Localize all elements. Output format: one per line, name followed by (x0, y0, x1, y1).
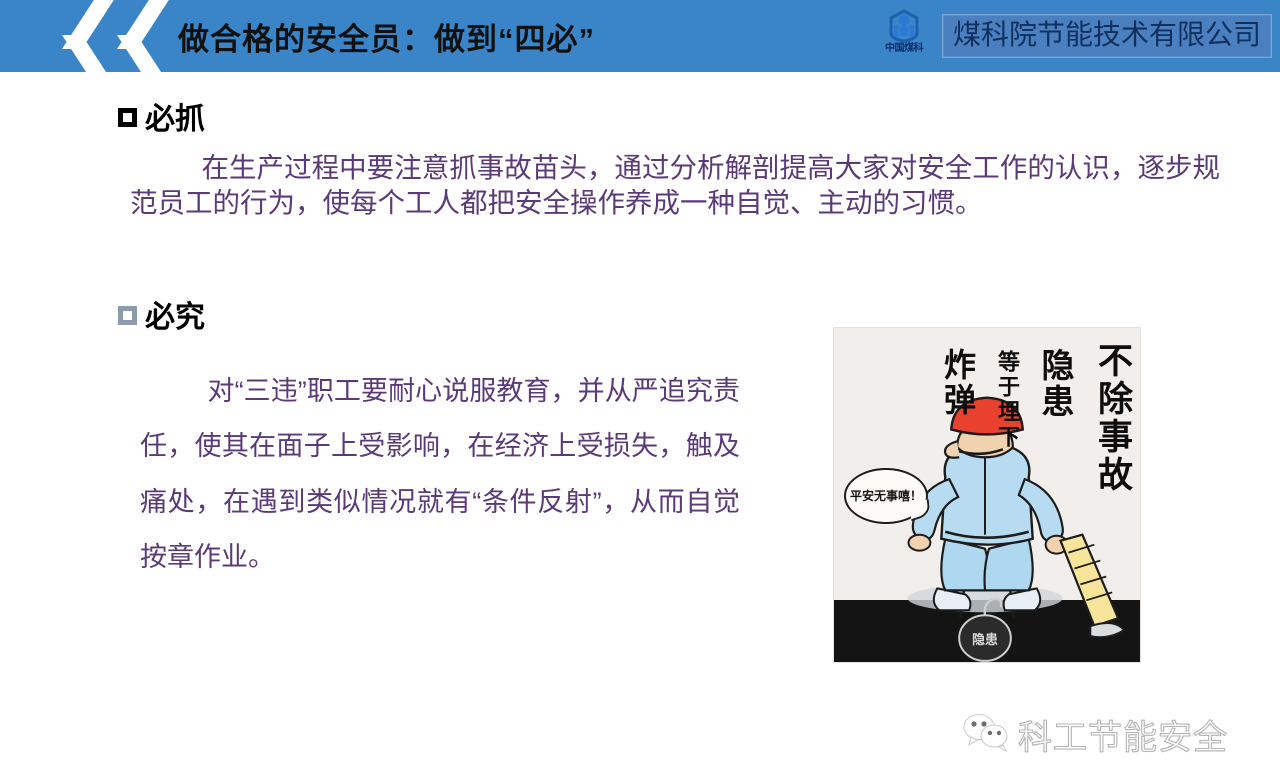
cartoon-brush-column-2: 隐患 (1037, 348, 1070, 420)
chevron-right-icon-1 (48, 0, 108, 72)
double-chevron-right-icon (0, 0, 190, 72)
china-coal-emblem-icon: 中国煤科 (873, 7, 935, 65)
section-heading-1: 必抓 (118, 94, 205, 138)
section-heading-2-label: 必究 (145, 292, 205, 336)
section-body-2: 对“三违”职工要耐心说服教育，并从严追究责任，使其在面子上受影响，在经济上受损失… (140, 364, 740, 585)
chevron-right-icon-2 (103, 0, 163, 72)
cartoon-brush-column-3: 等于埋下 (996, 350, 1018, 450)
section-body-1: 在生产过程中要注意抓事故苗头，通过分析解剖提高大家对安全工作的认识，逐步规范员工… (130, 150, 1220, 220)
svg-text:隐患: 隐患 (972, 632, 998, 647)
china-coal-logo-caption: 中国煤科 (885, 44, 923, 54)
cartoon-speech-bubble: 平安无事嘻！ (844, 468, 928, 524)
slide-header: 做合格的安全员：做到“四必” 中国煤科 煤科院节能技术有限公司 (0, 0, 1280, 72)
watermark-label: 科工节能安全 (1018, 710, 1228, 759)
cartoon-brush-column-4: 炸弹 (942, 348, 974, 418)
wechat-icon (962, 712, 1010, 757)
brand-group: 中国煤科 煤科院节能技术有限公司 (873, 0, 1272, 72)
square-bullet-gray-icon (118, 306, 137, 325)
cartoon-brush-column-1: 不除事故 (1095, 342, 1130, 494)
section-heading-2: 必究 (118, 292, 205, 336)
safety-cartoon-illustration: 隐患 不除事故 隐患 等于埋下 炸弹 平安无事嘻！ (833, 327, 1141, 663)
page-title: 做合格的安全员：做到“四必” (178, 0, 595, 72)
watermark: 科工节能安全 (962, 710, 1228, 759)
section-heading-1-label: 必抓 (145, 94, 205, 138)
slide-body: 必抓 在生产过程中要注意抓事故苗头，通过分析解剖提高大家对安全工作的认识，逐步规… (0, 72, 1280, 720)
company-name-box: 煤科院节能技术有限公司 (942, 14, 1272, 58)
square-bullet-black-icon (118, 108, 137, 127)
